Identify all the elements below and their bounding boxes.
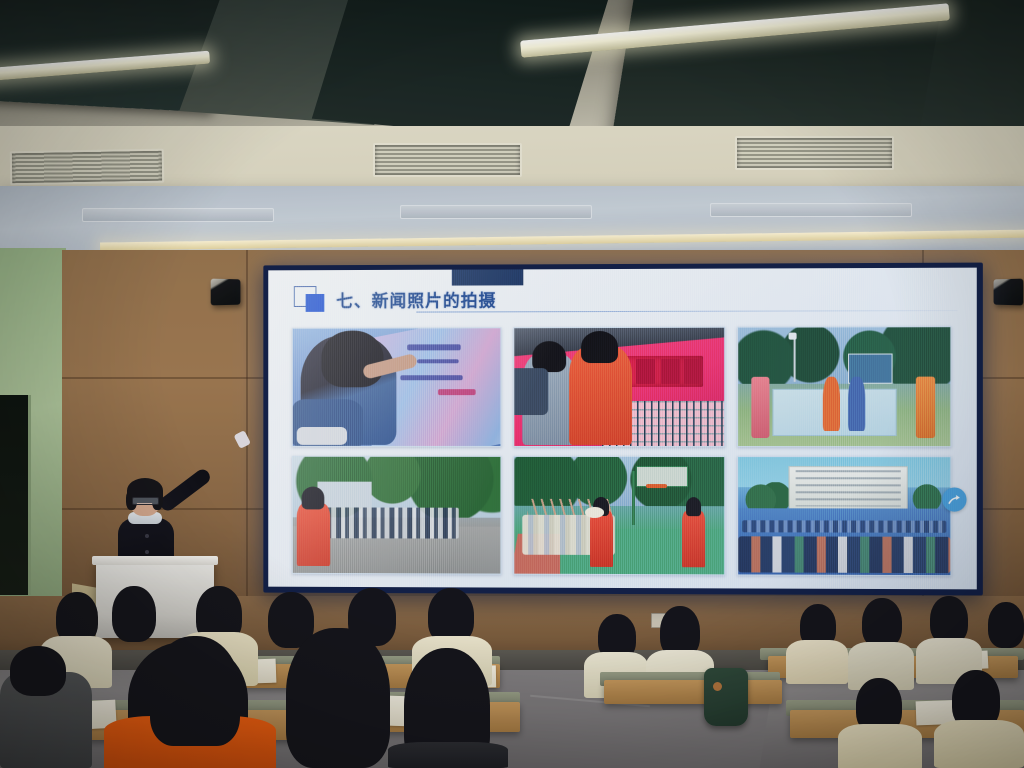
banner-glyph — [636, 358, 655, 384]
photo-caption: 户外手绘展板合影 — [741, 437, 781, 444]
play-share-icon — [947, 492, 962, 507]
photo-caption: 校园林荫道活动 — [296, 564, 330, 571]
hair — [302, 487, 325, 510]
volunteer-figure — [682, 511, 705, 568]
soffit-vent — [82, 208, 274, 222]
wall-speaker — [994, 279, 1024, 306]
building — [789, 466, 908, 511]
desk — [604, 680, 782, 704]
banner-glyph — [661, 358, 680, 384]
hvac-vent — [373, 143, 522, 177]
photo-caption: 学生在彩绘墙上作画 — [296, 436, 340, 443]
slide-photo-4[interactable]: 校园林荫道活动 — [292, 455, 502, 574]
led-screen[interactable]: 七、新闻照片的拍摄 — [263, 263, 983, 596]
slide-accent-tab — [452, 269, 523, 285]
student-hair — [150, 636, 240, 746]
screen-surface[interactable]: 七、新闻照片的拍摄 — [268, 268, 977, 590]
hair — [322, 331, 384, 387]
student-head — [930, 596, 968, 644]
student-figure — [916, 377, 935, 439]
sun-hat — [585, 507, 604, 518]
mural-mark — [417, 359, 459, 364]
photo-caption: 粉色横幅前的宣传活动 — [517, 436, 567, 443]
student-figure — [569, 347, 632, 446]
media-badge[interactable] — [942, 487, 966, 511]
photo-caption: 操场集会 — [741, 565, 761, 572]
mural-mark — [407, 345, 461, 351]
title-underline — [416, 310, 957, 313]
student-head — [112, 586, 156, 642]
hair — [581, 331, 617, 363]
slide-photo-6[interactable]: 操场集会 — [737, 456, 951, 577]
podium-edge — [92, 556, 218, 565]
button — [145, 550, 149, 554]
student-torso — [934, 720, 1024, 768]
soffit-vent — [400, 205, 592, 219]
student-row-far — [742, 520, 946, 532]
banner-drawing — [848, 377, 865, 431]
lamp-head — [789, 332, 797, 339]
backpack[interactable] — [704, 668, 748, 726]
hoop-pole — [632, 471, 635, 525]
square-logo-mark — [294, 286, 326, 312]
lecture-hall-scene: 七、新闻照片的拍摄 — [0, 0, 1024, 768]
presentation-slide: 七、新闻照片的拍摄 — [268, 268, 977, 590]
wall-seam — [246, 250, 248, 610]
slide-photo-1[interactable]: 学生在彩绘墙上作画 — [292, 327, 502, 446]
mural-mark — [401, 375, 463, 380]
ceiling-baffle — [312, 0, 608, 141]
student-head — [286, 628, 390, 768]
hair — [686, 497, 702, 516]
banner-drawing — [823, 377, 840, 431]
tree-line — [738, 327, 950, 384]
slide-photo-3[interactable]: 户外手绘展板合影 — [737, 326, 951, 446]
backpack-logo — [713, 682, 722, 691]
volunteer-figure — [297, 503, 330, 566]
slide-title-row: 七、新闻照片的拍摄 — [294, 285, 497, 311]
button — [145, 534, 149, 538]
hvac-vent — [735, 136, 894, 170]
slide-title: 七、新闻照片的拍摄 — [336, 286, 496, 311]
slide-photo-5[interactable]: 篮球场上的互动游戏 — [513, 455, 725, 575]
student-figure — [751, 377, 770, 438]
photo-caption: 篮球场上的互动游戏 — [517, 565, 562, 572]
student-head — [862, 598, 902, 648]
backpack — [513, 368, 547, 415]
doorway[interactable] — [0, 395, 31, 595]
logo-solid-square — [306, 294, 325, 312]
student-torso — [388, 742, 508, 768]
eyeglasses — [132, 497, 159, 505]
student-row-near — [738, 537, 950, 573]
student-head — [988, 602, 1024, 648]
photo-grid: 学生在彩绘墙上作画 粉色横幅前的宣传活动 — [292, 326, 952, 576]
hvac-vent — [10, 149, 165, 186]
slide-photo-2[interactable]: 粉色横幅前的宣传活动 — [513, 327, 725, 447]
tree — [742, 483, 788, 511]
student-head — [10, 646, 66, 696]
lamp-post — [793, 335, 795, 382]
wall-speaker — [211, 279, 241, 306]
student-torso — [786, 640, 848, 684]
mural-mark — [438, 389, 475, 395]
volunteer-figure — [590, 511, 613, 567]
soffit-vent — [710, 203, 912, 217]
banner-glyph — [684, 358, 703, 384]
student-torso — [838, 724, 922, 768]
basketball-rim — [646, 484, 667, 488]
